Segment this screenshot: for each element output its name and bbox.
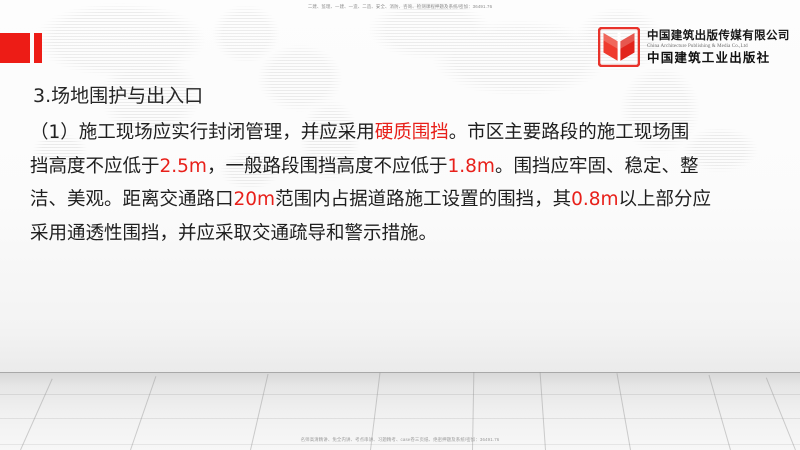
body-text-run: 挡高度不应低于 <box>30 156 160 177</box>
highlighted-term: 硬质围挡 <box>375 122 449 143</box>
highlighted-term: 2.5m <box>160 156 207 177</box>
red-accent-block-large <box>0 33 30 63</box>
slide-body-text: （1）施工现场应实行封闭管理，并应采用硬质围挡。市区主要路段的施工现场围挡高度不… <box>30 116 776 250</box>
body-text-run: （1）施工现场应实行封闭管理，并应采用 <box>30 122 375 143</box>
logo-company-name-cn: 中国建筑出版传媒有限公司 <box>647 29 790 42</box>
body-line: （1）施工现场应实行封闭管理，并应采用硬质围挡。市区主要路段的施工现场围 <box>30 116 776 150</box>
body-line: 洁、美观。距离交通路口20m范围内占据道路施工设置的围挡，其0.8m以上部分应 <box>30 183 776 217</box>
logo-company-name-en: China Architecture Publishing & Media Co… <box>647 43 790 50</box>
body-text-run: 洁、美观。距离交通路口 <box>30 189 234 210</box>
body-text-run: 以上部分应 <box>619 189 712 210</box>
presentation-slide: 二建、监理、一建、一造、二造、安全、消防、咨询、检测课程押题及系统/密加：364… <box>0 0 800 450</box>
logo-press-name-cn: 中国建筑工业出版社 <box>647 51 790 65</box>
floor-gridline-horizontal <box>0 418 800 419</box>
highlighted-term: 20m <box>234 189 276 210</box>
body-text-run: 范围内占据道路施工设置的围挡，其 <box>275 189 571 210</box>
floor-gridline-horizontal <box>0 394 800 395</box>
footer-watermark-text: 名师高清精讲、免全内讲、考点串讲、习题精考、case卷三页纸、绝密押题及系统/密… <box>0 436 800 443</box>
header-watermark-text: 二建、监理、一建、一造、二造、安全、消防、咨询、检测课程押题及系统/密加：364… <box>0 3 800 10</box>
body-text-run: ，一般路段围挡高度不应低于 <box>207 156 448 177</box>
slide-heading: 3.场地围护与出入口 <box>33 83 203 109</box>
open-book-logo-icon <box>598 27 640 67</box>
highlighted-term: 0.8m <box>571 189 618 210</box>
highlighted-term: 1.8m <box>447 156 494 177</box>
publisher-logo: 中国建筑出版传媒有限公司 China Architecture Publishi… <box>598 27 790 67</box>
body-text-run: 采用通透性围挡，并应采取交通疏导和警示措施。 <box>30 223 437 244</box>
red-accent-block-small <box>34 33 42 63</box>
body-text-run: 。市区主要路段的施工现场围 <box>449 122 690 143</box>
body-line: 采用通透性围挡，并应采取交通疏导和警示措施。 <box>30 217 776 251</box>
floor-horizon-line <box>0 372 800 373</box>
body-line: 挡高度不应低于2.5m，一般路段围挡高度不应低于1.8m。围挡应牢固、稳定、整 <box>30 150 776 184</box>
floor-gridline-horizontal <box>0 444 800 445</box>
body-text-run: 。围挡应牢固、稳定、整 <box>495 156 699 177</box>
